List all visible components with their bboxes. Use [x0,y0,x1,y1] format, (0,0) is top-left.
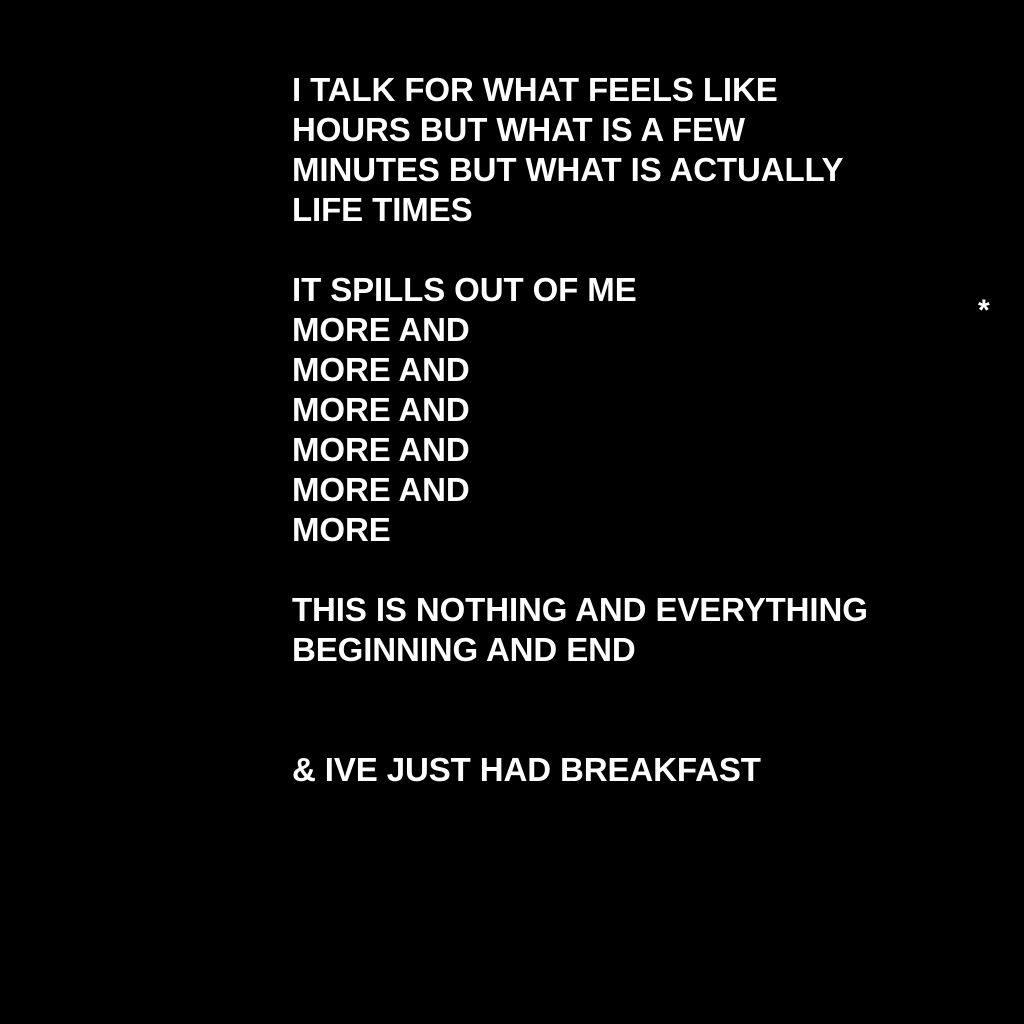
poem-canvas: I TALK FOR WHAT FEELS LIKE HOURS BUT WHA… [0,0,1024,1024]
poem-line: THIS IS NOTHING AND EVERYTHING [292,590,992,630]
poem-line: I TALK FOR WHAT FEELS LIKE [292,70,992,110]
poem-line-spacer [292,230,992,270]
poem-line: LIFE TIMES [292,190,992,230]
poem-line: MORE AND [292,310,992,350]
poem-line: MORE AND [292,350,992,390]
poem-line: MORE [292,510,992,550]
poem-line-spacer [292,550,992,590]
poem-line: IT SPILLS OUT OF ME [292,270,992,310]
poem-line: MORE AND [292,470,992,510]
poem-line-spacer [292,670,992,710]
poem-text-block: I TALK FOR WHAT FEELS LIKE HOURS BUT WHA… [292,70,992,790]
poem-line: & IVE JUST HAD BREAKFAST [292,750,992,790]
poem-line-spacer [292,710,992,750]
poem-line: BEGINNING AND END [292,630,992,670]
poem-line: MORE AND [292,430,992,470]
poem-line: HOURS BUT WHAT IS A FEW [292,110,992,150]
poem-line: MORE AND [292,390,992,430]
asterisk-icon: * [978,296,998,326]
poem-line: MINUTES BUT WHAT IS ACTUALLY [292,150,992,190]
